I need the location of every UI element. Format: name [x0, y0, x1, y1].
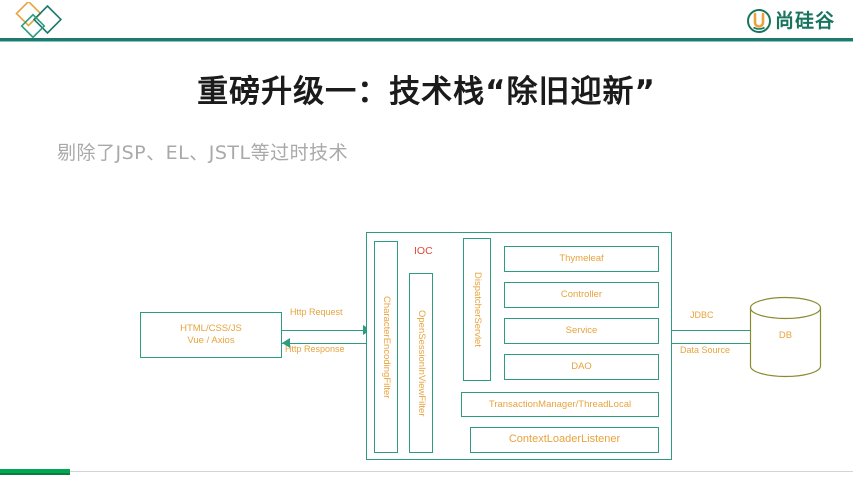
infra-transaction-manager-label: TransactionManager/ThreadLocal [489, 399, 631, 411]
jdbc-label: JDBC [690, 310, 714, 320]
layer-dao: DAO [504, 354, 659, 380]
client-box-line2: Vue / Axios [187, 335, 234, 347]
data-source-label: Data Source [680, 345, 730, 355]
http-response-label: Http Response [285, 344, 345, 354]
layer-controller-label: Controller [561, 289, 602, 301]
client-box: HTML/CSS/JS Vue / Axios [140, 312, 282, 358]
layer-thymeleaf-label: Thymeleaf [559, 253, 603, 265]
layer-dao-label: DAO [571, 361, 592, 373]
http-request-label: Http Request [290, 307, 343, 317]
footer-divider [0, 471, 853, 472]
slide-canvas: 尚硅谷 重磅升级一：技术栈“除旧迎新” 剔除了JSP、EL、JSTL等过时技术 … [0, 0, 853, 482]
infra-transaction-manager: TransactionManager/ThreadLocal [461, 392, 659, 417]
filter-open-session-in-view-label: OpenSessionInViewFilter [415, 310, 427, 417]
jdbc-line [672, 330, 750, 331]
infra-context-loader-listener-label: ContextLoaderListener [509, 433, 620, 447]
layer-service-label: Service [566, 325, 598, 337]
dispatcher-servlet: DispatcherServlet [463, 238, 491, 381]
infra-context-loader-listener: ContextLoaderListener [470, 427, 659, 453]
client-box-line1: HTML/CSS/JS [180, 323, 242, 335]
filter-character-encoding-label: CharacterEncodingFilter [380, 296, 392, 398]
layer-controller: Controller [504, 282, 659, 308]
ioc-label: IOC [414, 245, 433, 257]
architecture-diagram: HTML/CSS/JS Vue / Axios Http Request Htt… [0, 0, 853, 482]
filter-open-session-in-view: OpenSessionInViewFilter [409, 273, 433, 453]
footer-accent-bar-shadow [0, 473, 70, 475]
database-label: DB [748, 330, 823, 341]
layer-thymeleaf: Thymeleaf [504, 246, 659, 272]
http-request-line [282, 330, 368, 331]
layer-service: Service [504, 318, 659, 344]
filter-character-encoding: CharacterEncodingFilter [374, 241, 398, 453]
dispatcher-servlet-label: DispatcherServlet [471, 272, 483, 347]
